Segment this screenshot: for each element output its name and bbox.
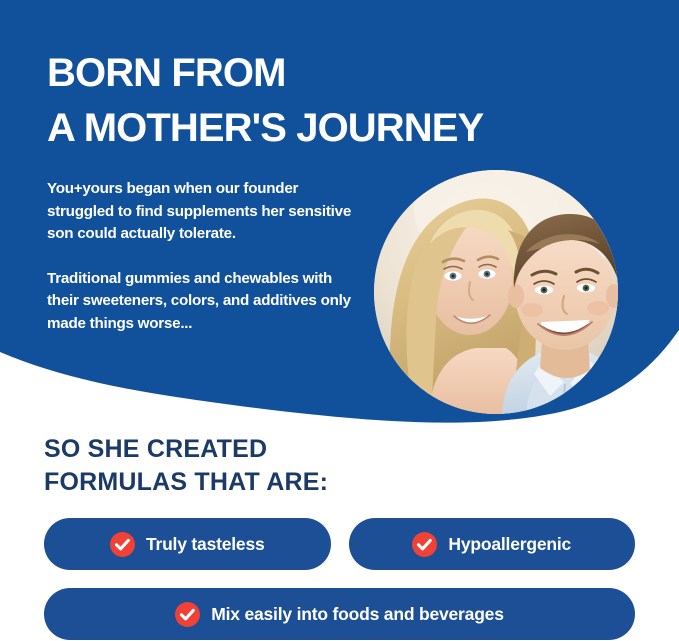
section-heading: SO SHE CREATED FORMULAS THAT ARE: [44,433,328,499]
benefit-pill-wide-row: Mix easily into foods and beverages [44,588,635,640]
benefit-label: Hypoallergenic [448,534,571,555]
founder-story: You+yours began when our founder struggl… [47,178,357,335]
story-paragraph-1: You+yours began when our founder struggl… [47,178,357,246]
check-circle-icon [110,532,135,557]
benefit-label: Truly tasteless [146,534,265,555]
benefit-pill-truly-tasteless[interactable]: Truly tasteless [44,518,331,570]
marketing-banner: BORN FROM A MOTHER'S JOURNEY You+yours b… [0,0,679,641]
check-circle-icon [412,532,437,557]
section-heading-line-2: FORMULAS THAT ARE: [44,466,328,499]
headline-line-2: A MOTHER'S JOURNEY [47,101,483,156]
benefit-label: Mix easily into foods and beverages [211,604,504,625]
page-title: BORN FROM A MOTHER'S JOURNEY [47,46,483,156]
section-heading-line-1: SO SHE CREATED [44,433,328,466]
check-circle-icon [175,602,200,627]
founder-photo [374,170,618,414]
story-paragraph-2: Traditional gummies and chewables with t… [47,268,357,336]
benefit-pill-row: Truly tasteless Hypoallergenic [44,518,635,570]
headline-line-1: BORN FROM [47,46,483,101]
benefit-pill-hypoallergenic[interactable]: Hypoallergenic [349,518,636,570]
benefit-pill-mix-easily[interactable]: Mix easily into foods and beverages [44,588,635,640]
